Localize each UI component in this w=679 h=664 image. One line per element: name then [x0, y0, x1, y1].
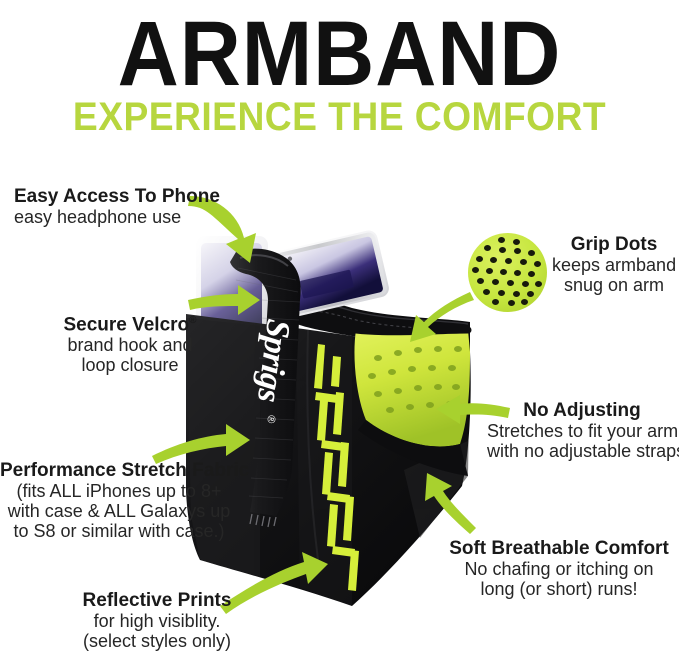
registered-mark-icon: ®: [189, 315, 196, 326]
callout-line: for high visiblity.: [64, 611, 250, 631]
callout-title: Performance Stretch Fabric: [0, 460, 238, 481]
arrow-grip-dots: [410, 292, 474, 342]
callout-line: Stretches to fit your arm: [487, 421, 677, 441]
callout-title: Easy Access To Phone: [14, 186, 220, 207]
callout-line: loop closure: [50, 355, 210, 375]
callout-line: snug on arm: [552, 275, 676, 295]
callout-secure-velcro: Secure Velcro® brand hook and loop closu…: [50, 310, 210, 375]
callout-title: Grip Dots: [552, 234, 676, 255]
callout-title: Soft Breathable Comfort: [440, 538, 678, 559]
callout-no-adjusting: No Adjusting Stretches to fit your arm w…: [487, 400, 677, 461]
callout-line: keeps armband: [552, 255, 676, 275]
callout-line: to S8 or similar with case.): [0, 521, 238, 541]
callout-title: No Adjusting: [487, 400, 677, 421]
callout-reflective-prints: Reflective Prints for high visiblity. (s…: [64, 590, 250, 651]
callout-title: Reflective Prints: [64, 590, 250, 611]
arrow-stretch-fabric: [152, 424, 250, 464]
callout-line: (select styles only): [64, 631, 250, 651]
callout-stretch-fabric: Performance Stretch Fabric (fits ALL iPh…: [0, 460, 238, 541]
callout-line: easy headphone use: [14, 207, 220, 227]
callout-soft-comfort: Soft Breathable Comfort No chafing or it…: [440, 538, 678, 599]
arrow-soft-comfort: [425, 473, 476, 534]
callout-easy-access: Easy Access To Phone easy headphone use: [14, 186, 220, 227]
grip-dots-detail-circle: [468, 233, 547, 312]
callout-line: with case & ALL Galaxys up: [0, 501, 238, 521]
callout-line: No chafing or itching on: [440, 559, 678, 579]
callout-grip-dots: Grip Dots keeps armband snug on arm: [552, 234, 676, 295]
callout-title-text: Secure Velcro: [63, 314, 189, 335]
infographic-page: ARMBAND EXPERIENCE THE COMFORT: [0, 0, 679, 664]
callout-line: with no adjustable straps: [487, 441, 677, 461]
callout-title: Secure Velcro®: [50, 310, 210, 335]
callout-line: brand hook and: [50, 335, 210, 355]
callout-line: long (or short) runs!: [440, 579, 678, 599]
callout-line: (fits ALL iPhones up to 8+: [0, 481, 238, 501]
